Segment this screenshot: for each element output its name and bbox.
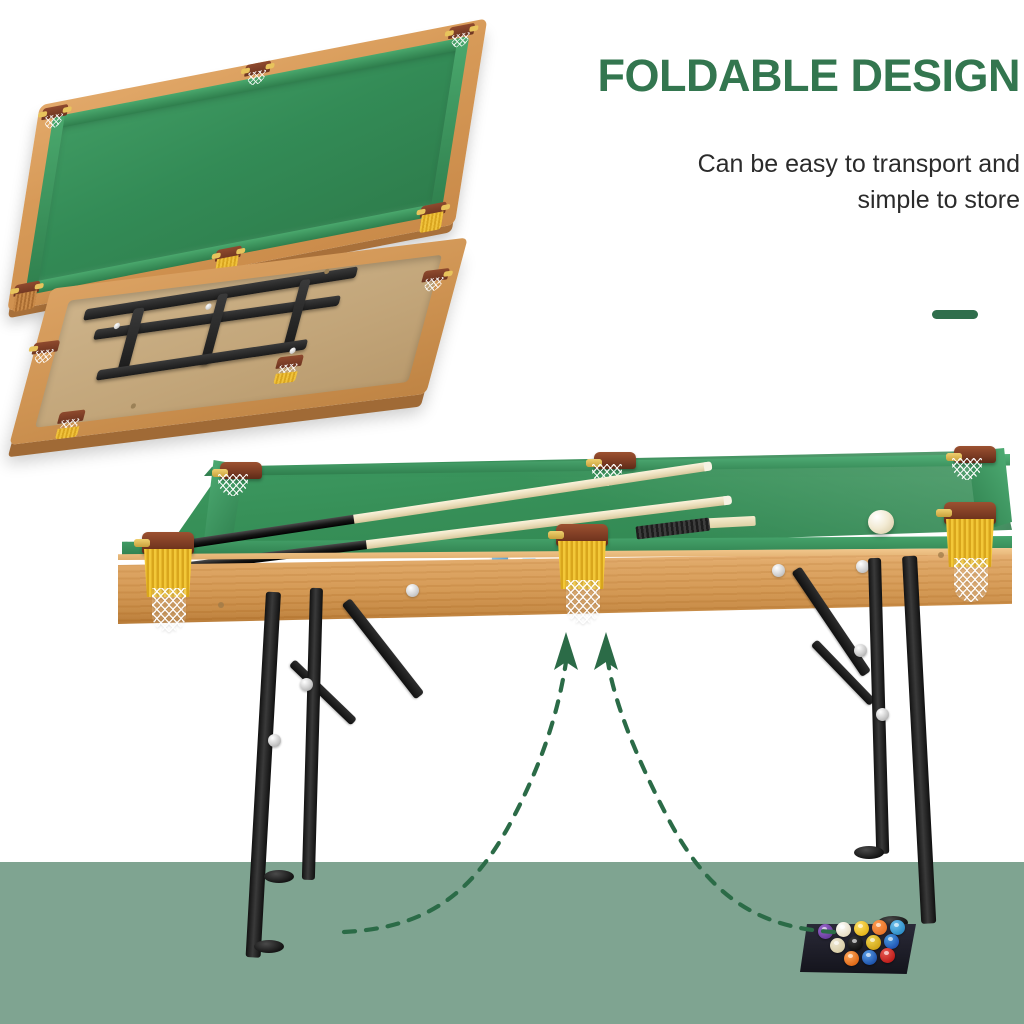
ball-rack [800,918,916,980]
ball-yellow [854,921,869,936]
ball-white [836,922,851,937]
assembled-pool-table [96,448,1012,868]
ball-red [880,948,895,963]
ball-eight [848,936,863,951]
apron-screw-2 [938,552,944,558]
ball-lightblue [890,920,905,935]
leg-pivot-left-1 [300,678,313,691]
green-dash-rule [932,310,978,319]
leg-brace-left-inner [289,659,357,725]
ball-blue [884,934,899,949]
leg-foot-front-left [254,940,284,953]
leg-foot-back-left [264,870,294,883]
ball-blue-2 [862,950,877,965]
apron-bolt-2 [772,564,785,577]
ball-orange-2 [844,951,859,966]
page-title: FOLDABLE DESIGN [528,52,1020,99]
leg-pivot-right-2 [876,708,889,721]
ball-purple [818,924,833,939]
subtitle-line-1: Can be easy to transport and [520,146,1020,182]
marketing-image-canvas: FOLDABLE DESIGN Can be easy to transport… [0,0,1024,1024]
table-leg-back-left [302,588,323,880]
apron-screw-1 [218,602,224,608]
ball-yellow-2 [866,935,881,950]
leg-foot-back-right [854,846,884,859]
underside-board [35,255,442,428]
leg-pivot-left-2 [268,734,281,747]
ball-cream [830,938,845,953]
cue-ball [868,510,894,534]
subtitle-line-2: simple to store [520,182,1020,218]
apron-bolt-3 [856,560,869,573]
apron-bolt-1 [406,584,419,597]
page-subtitle: Can be easy to transport and simple to s… [520,146,1020,219]
ball-orange [872,920,887,935]
leg-pivot-right-1 [854,644,867,657]
folded-table-underside-view [6,250,476,450]
